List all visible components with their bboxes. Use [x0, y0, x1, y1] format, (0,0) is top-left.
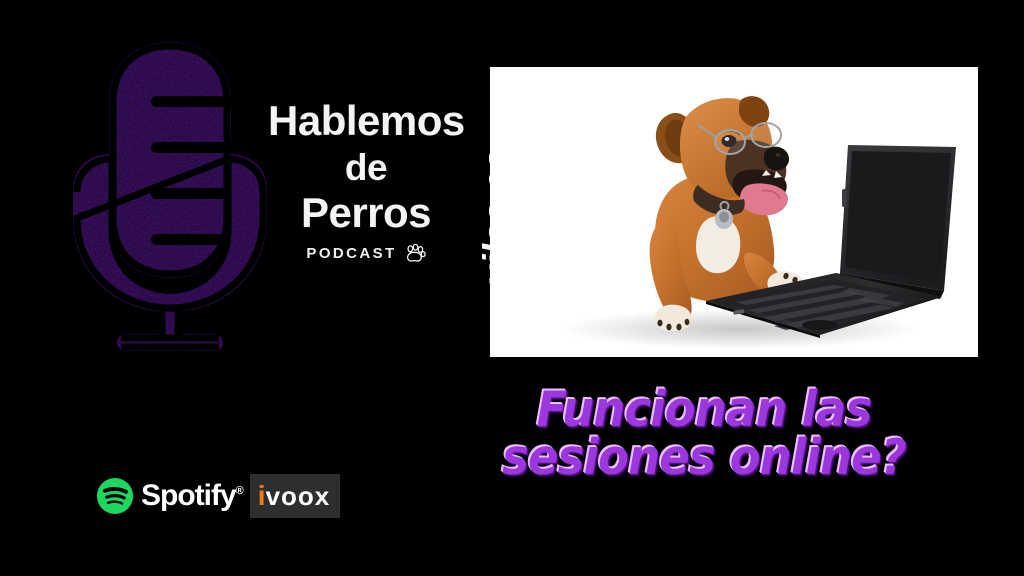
brand-subtitle-podcast: PODCAST: [306, 245, 396, 262]
brand-title-block: Hablemos de Perros PODCAST: [268, 100, 464, 263]
spotify-icon: [96, 477, 134, 515]
episode-title-line-1: Funcionan las: [446, 386, 961, 434]
ivoox-accent-letter: i: [258, 482, 266, 510]
ivoox-wordmark: voox: [266, 483, 331, 509]
podcast-cover-canvas: Hablemos de Perros PODCAST xilas.es: [0, 0, 1024, 576]
paw-print-icon: [404, 244, 426, 263]
brand-subtitle-row: PODCAST: [268, 244, 464, 263]
ivoox-badge[interactable]: i voox: [250, 474, 340, 518]
episode-title-line-2: sesiones online?: [446, 434, 961, 482]
spotify-trademark: ®: [236, 485, 243, 497]
episode-photo: [490, 67, 978, 357]
brand-line-perros: Perros: [268, 192, 464, 234]
retro-microphone-icon: [55, 22, 285, 352]
spotify-badge[interactable]: Spotify®: [96, 477, 243, 515]
spotify-wordmark: Spotify: [141, 479, 236, 512]
platform-badges: Spotify® i voox: [96, 474, 340, 518]
episode-title: Funcionan las sesiones online?: [446, 386, 961, 482]
brand-line-de: de: [268, 149, 464, 186]
spotify-label: Spotify®: [141, 479, 243, 513]
brand-line-hablemos: Hablemos: [268, 100, 464, 142]
